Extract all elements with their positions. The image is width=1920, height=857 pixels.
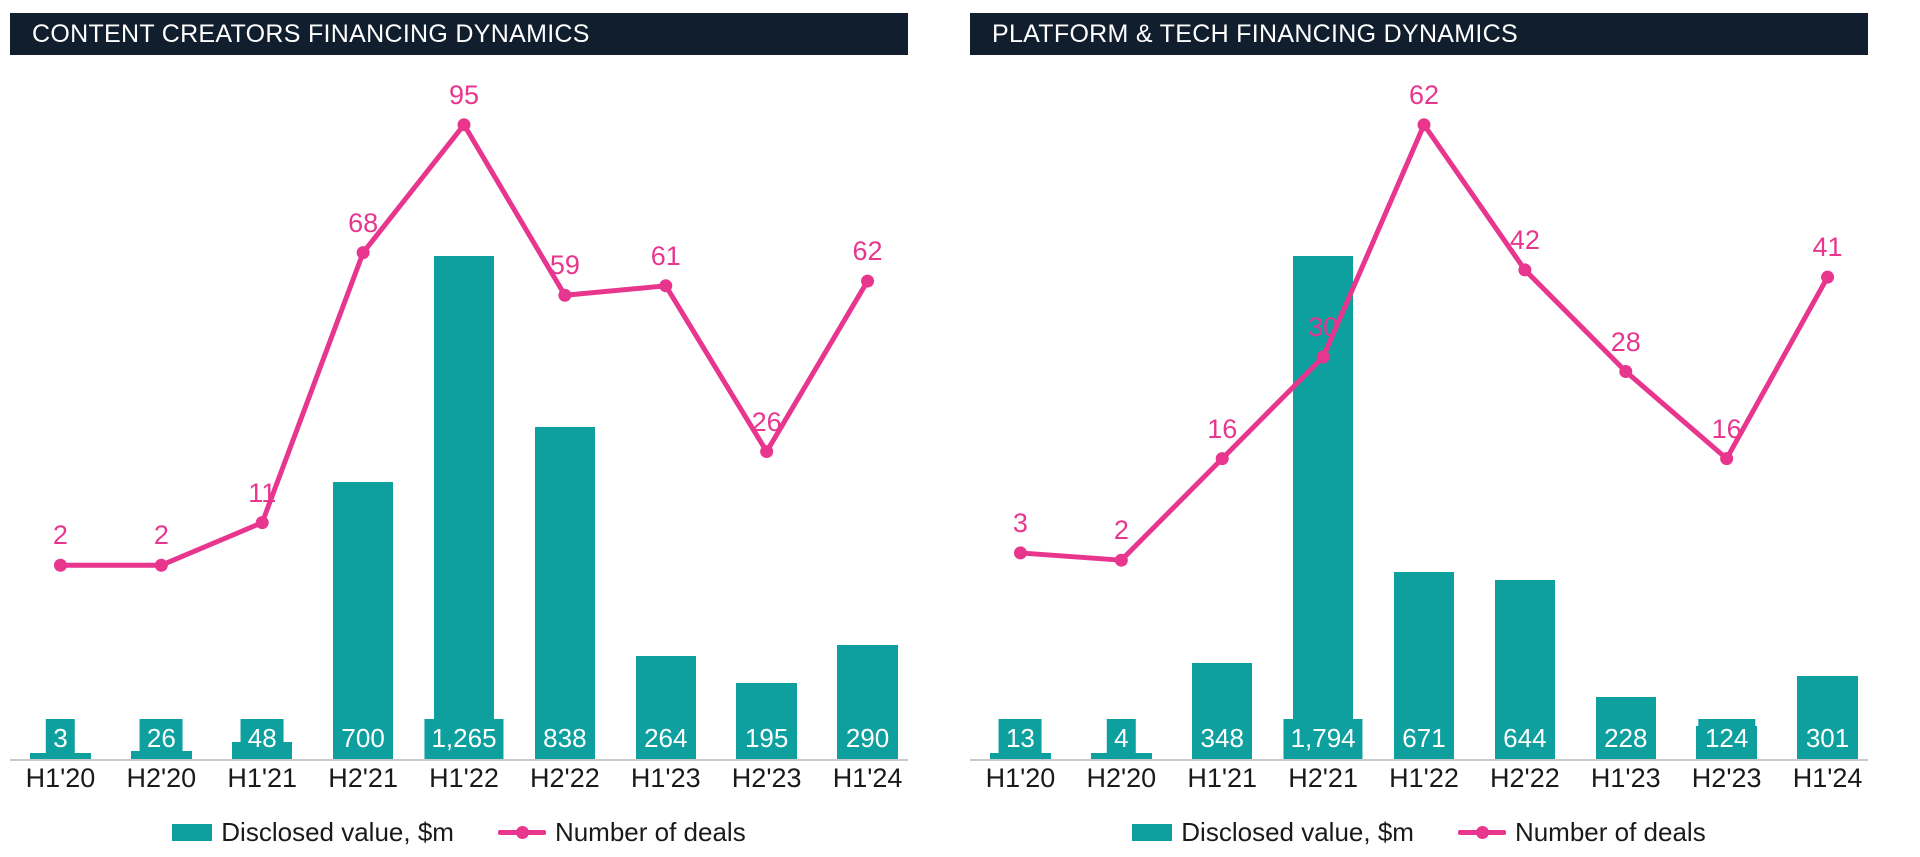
legend-0: Disclosed value, $m Number of deals — [10, 812, 908, 852]
chart-title-bar-0: CONTENT CREATORS FINANCING DYNAMICS — [10, 13, 908, 55]
x-tick-label: H1'21 — [227, 763, 297, 794]
line-value-label: 26 — [752, 409, 782, 436]
line-value-label: 42 — [1510, 227, 1540, 254]
legend-item-number-of-deals-0[interactable]: Number of deals — [498, 817, 746, 848]
plot-area-1: 1343481,794671644228124301 3216306242281… — [970, 58, 1868, 761]
legend-label-number-of-deals-1: Number of deals — [1515, 817, 1706, 848]
x-tick-label: H1'21 — [1187, 763, 1257, 794]
line-point-labels-0: 2211689559612662 — [10, 58, 908, 761]
legend-item-disclosed-value-1[interactable]: Disclosed value, $m — [1132, 817, 1414, 848]
legend-item-number-of-deals-1[interactable]: Number of deals — [1458, 817, 1706, 848]
panel-content-creators: CONTENT CREATORS FINANCING DYNAMICS 3264… — [0, 0, 960, 857]
legend-item-disclosed-value-0[interactable]: Disclosed value, $m — [172, 817, 454, 848]
line-value-label: 2 — [154, 522, 169, 549]
line-value-label: 68 — [348, 210, 378, 237]
x-axis-ticks-1: H1'20H2'20H1'21H2'21H1'22H2'22H1'23H2'23… — [970, 763, 1868, 807]
x-tick-label: H2'20 — [1086, 763, 1156, 794]
legend-label-number-of-deals-0: Number of deals — [555, 817, 746, 848]
x-tick-label: H2'23 — [1692, 763, 1762, 794]
line-value-label: 59 — [550, 252, 580, 279]
panel-platform-tech: PLATFORM & TECH FINANCING DYNAMICS 13434… — [960, 0, 1920, 857]
x-tick-label: H2'22 — [530, 763, 600, 794]
dashboard-root: CONTENT CREATORS FINANCING DYNAMICS 3264… — [0, 0, 1920, 857]
line-value-label: 28 — [1611, 329, 1641, 356]
plot-area-0: 326487001,265838264195290 22116895596126… — [10, 58, 908, 761]
line-value-label: 95 — [449, 82, 479, 109]
line-value-label: 62 — [853, 238, 883, 265]
chart-title-bar-1: PLATFORM & TECH FINANCING DYNAMICS — [970, 13, 1868, 55]
x-axis-ticks-0: H1'20H2'20H1'21H2'21H1'22H2'22H1'23H2'23… — [10, 763, 908, 807]
x-tick-label: H2'22 — [1490, 763, 1560, 794]
x-axis-line-1 — [970, 759, 1868, 761]
line-value-label: 11 — [248, 480, 276, 507]
pink-line-marker-icon — [498, 823, 546, 841]
line-value-label: 30 — [1308, 314, 1338, 341]
x-tick-label: H1'23 — [631, 763, 701, 794]
line-point-labels-1: 3216306242281641 — [970, 58, 1868, 761]
legend-label-disclosed-value-1: Disclosed value, $m — [1181, 817, 1414, 848]
x-tick-label: H1'24 — [1793, 763, 1863, 794]
teal-square-icon — [172, 824, 212, 841]
line-value-label: 62 — [1409, 82, 1439, 109]
line-value-label: 3 — [1013, 510, 1028, 537]
legend-label-disclosed-value-0: Disclosed value, $m — [221, 817, 454, 848]
x-tick-label: H2'21 — [1288, 763, 1358, 794]
line-value-label: 16 — [1712, 416, 1742, 443]
line-value-label: 2 — [53, 522, 68, 549]
line-value-label: 41 — [1813, 234, 1843, 261]
chart-title-1: PLATFORM & TECH FINANCING DYNAMICS — [992, 20, 1518, 49]
x-tick-label: H1'20 — [986, 763, 1056, 794]
x-axis-line-0 — [10, 759, 908, 761]
x-tick-label: H1'22 — [1389, 763, 1459, 794]
line-value-label: 16 — [1207, 416, 1237, 443]
x-tick-label: H1'20 — [26, 763, 96, 794]
x-tick-label: H1'22 — [429, 763, 499, 794]
legend-1: Disclosed value, $m Number of deals — [970, 812, 1868, 852]
x-tick-label: H1'24 — [833, 763, 903, 794]
x-tick-label: H1'23 — [1591, 763, 1661, 794]
x-tick-label: H2'21 — [328, 763, 398, 794]
chart-title-0: CONTENT CREATORS FINANCING DYNAMICS — [32, 20, 590, 49]
x-tick-label: H2'20 — [126, 763, 196, 794]
line-value-label: 61 — [651, 243, 681, 270]
line-value-label: 2 — [1114, 517, 1129, 544]
teal-square-icon — [1132, 824, 1172, 841]
x-tick-label: H2'23 — [732, 763, 802, 794]
pink-line-marker-icon — [1458, 823, 1506, 841]
